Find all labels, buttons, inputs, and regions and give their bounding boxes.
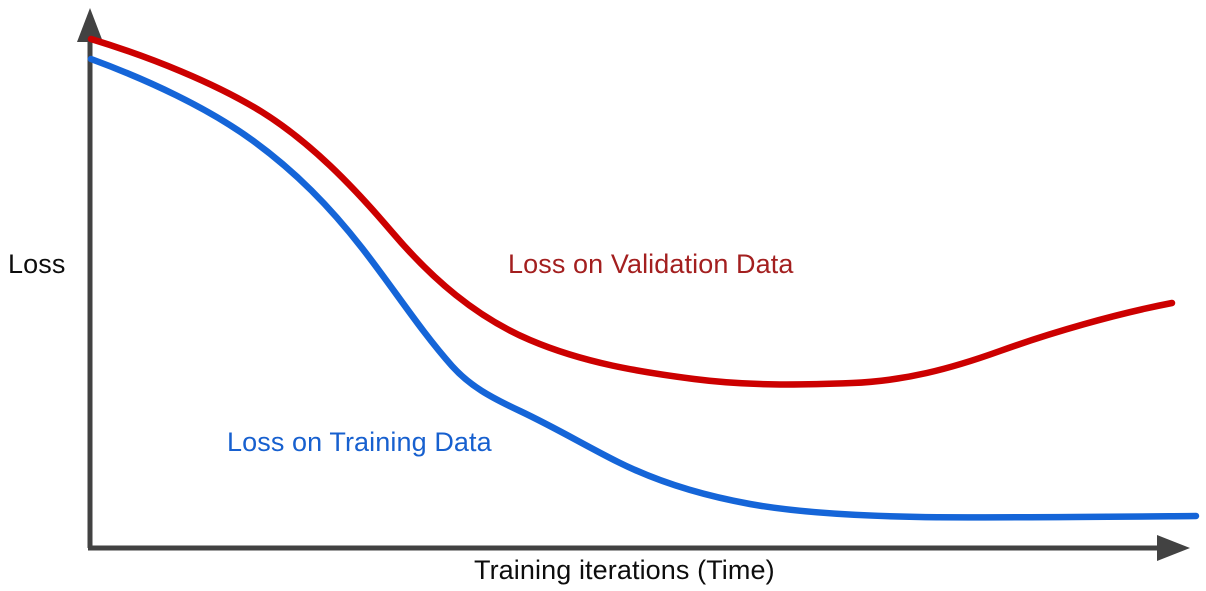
chart-canvas: Loss Training iterations (Time) Loss on … bbox=[0, 0, 1206, 591]
x-axis-label: Training iterations (Time) bbox=[474, 557, 775, 584]
x-axis-arrow-icon bbox=[1157, 535, 1190, 561]
validation-loss-curve bbox=[91, 39, 1172, 384]
validation-series-label: Loss on Validation Data bbox=[508, 251, 793, 278]
loss-curves-plot bbox=[0, 0, 1206, 591]
y-axis-label: Loss bbox=[8, 251, 65, 278]
training-series-label: Loss on Training Data bbox=[227, 429, 492, 456]
